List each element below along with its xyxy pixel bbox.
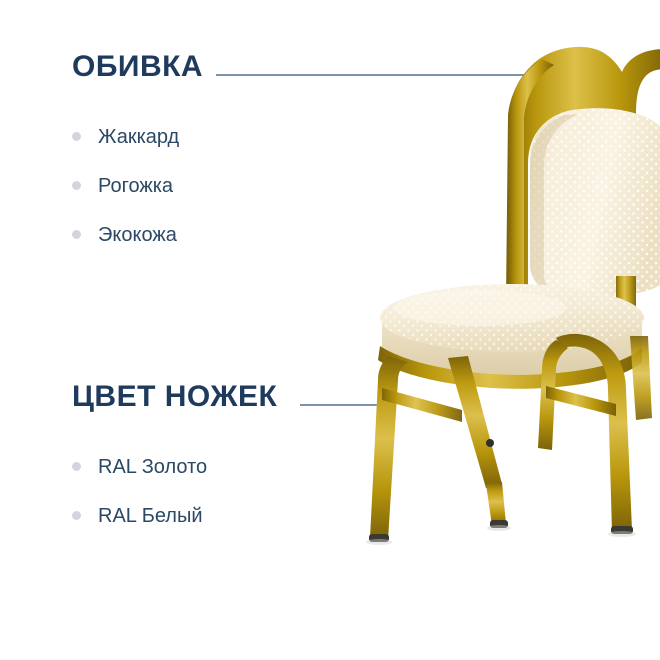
option-list-leg-color: RAL Золото RAL Белый [72,442,277,540]
list-item[interactable]: RAL Белый [72,491,277,540]
list-item[interactable]: RAL Золото [72,442,277,491]
option-label: Жаккард [98,127,179,147]
list-item[interactable]: Рогожка [72,161,203,210]
bullet-dot-icon [72,181,81,190]
option-label: Рогожка [98,176,173,196]
product-feature-card: ОБИВКА Жаккард Рогожка Экокожа ЦВЕТ НОЖЕ… [0,0,660,660]
option-label: RAL Золото [98,457,207,477]
bullet-dot-icon [72,132,81,141]
feature-group-upholstery: ОБИВКА Жаккард Рогожка Экокожа [72,52,203,259]
bullet-dot-icon [72,230,81,239]
bullet-dot-icon [72,462,81,471]
section-heading-leg-color: ЦВЕТ НОЖЕК [72,382,277,412]
list-item[interactable]: Экокожа [72,210,203,259]
section-heading-upholstery: ОБИВКА [72,52,203,82]
option-label: Экокожа [98,225,177,245]
option-label: RAL Белый [98,506,203,526]
option-list-upholstery: Жаккард Рогожка Экокожа [72,112,203,259]
feature-group-leg-color: ЦВЕТ НОЖЕК RAL Золото RAL Белый [72,382,277,540]
bullet-dot-icon [72,511,81,520]
list-item[interactable]: Жаккард [72,112,203,161]
product-photo-banquet-chair [330,18,660,548]
